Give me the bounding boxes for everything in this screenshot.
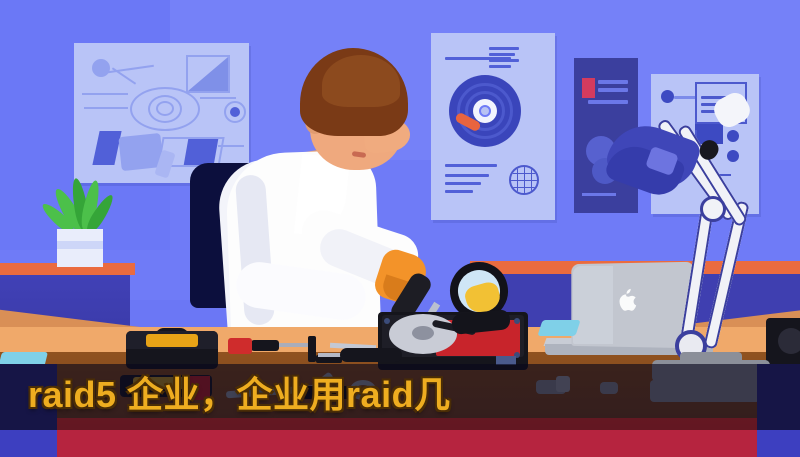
center-hdd-poster bbox=[431, 33, 555, 220]
toolbox-latch bbox=[146, 334, 198, 347]
poster-triangle-shape bbox=[188, 57, 228, 91]
red-handle-screwdriver bbox=[228, 338, 252, 354]
poster-text-line bbox=[489, 59, 519, 62]
poster-text-line bbox=[588, 100, 628, 104]
poster-accent-mark bbox=[582, 78, 595, 98]
globe-icon bbox=[509, 165, 539, 195]
poster-connector-line bbox=[84, 107, 128, 109]
poster-baseline bbox=[582, 193, 616, 196]
poster-text-line bbox=[598, 80, 628, 84]
allen-key-long-arm bbox=[308, 336, 316, 362]
poster-connector-line bbox=[200, 97, 236, 99]
poster-node-icon bbox=[92, 59, 110, 77]
illustration-canvas: raid5 企业，企业用raid几 bbox=[0, 0, 800, 457]
screwdriver-shaft bbox=[277, 343, 311, 347]
right-equipment-dial bbox=[778, 328, 800, 354]
poster-ellipse-core bbox=[156, 101, 174, 116]
hair-highlight bbox=[322, 55, 400, 107]
plant-pot-band bbox=[57, 241, 103, 249]
screwdriver-grip bbox=[251, 340, 279, 351]
poster-connector-line bbox=[82, 93, 128, 95]
poster-text-line bbox=[489, 65, 511, 68]
laptop-lid-highlight bbox=[573, 266, 613, 344]
poster-text-line bbox=[445, 182, 481, 185]
black-screwdriver bbox=[340, 348, 402, 362]
hdd-platter-hub bbox=[412, 326, 434, 340]
poster-connector-line bbox=[674, 96, 696, 99]
blue-component bbox=[537, 320, 580, 336]
poster-text-line bbox=[445, 174, 489, 177]
poster-text-line bbox=[489, 47, 519, 50]
apple-logo-icon bbox=[615, 288, 637, 312]
poster-text-line bbox=[445, 164, 497, 167]
bottom-bar-red bbox=[57, 430, 757, 457]
flowchart-node-icon bbox=[661, 90, 674, 103]
left-diagram-poster bbox=[74, 43, 249, 183]
poster-connector-line bbox=[218, 145, 244, 147]
poster-bar-shape bbox=[92, 131, 121, 165]
poster-node-dot bbox=[230, 107, 240, 117]
lamp-elbow-joint bbox=[700, 196, 726, 222]
poster-text-line bbox=[598, 88, 628, 92]
hdd-screw bbox=[514, 318, 520, 324]
poster-text-line bbox=[445, 190, 473, 193]
page-title: raid5 企业，企业用raid几 bbox=[28, 372, 768, 418]
title-overlay-red-tint bbox=[57, 418, 757, 430]
platter-hub-center bbox=[479, 105, 491, 117]
poster-fill-shape bbox=[184, 139, 219, 165]
poster-text-line bbox=[489, 53, 515, 56]
hdd-screw bbox=[384, 318, 390, 324]
platter-graphic bbox=[449, 75, 521, 147]
